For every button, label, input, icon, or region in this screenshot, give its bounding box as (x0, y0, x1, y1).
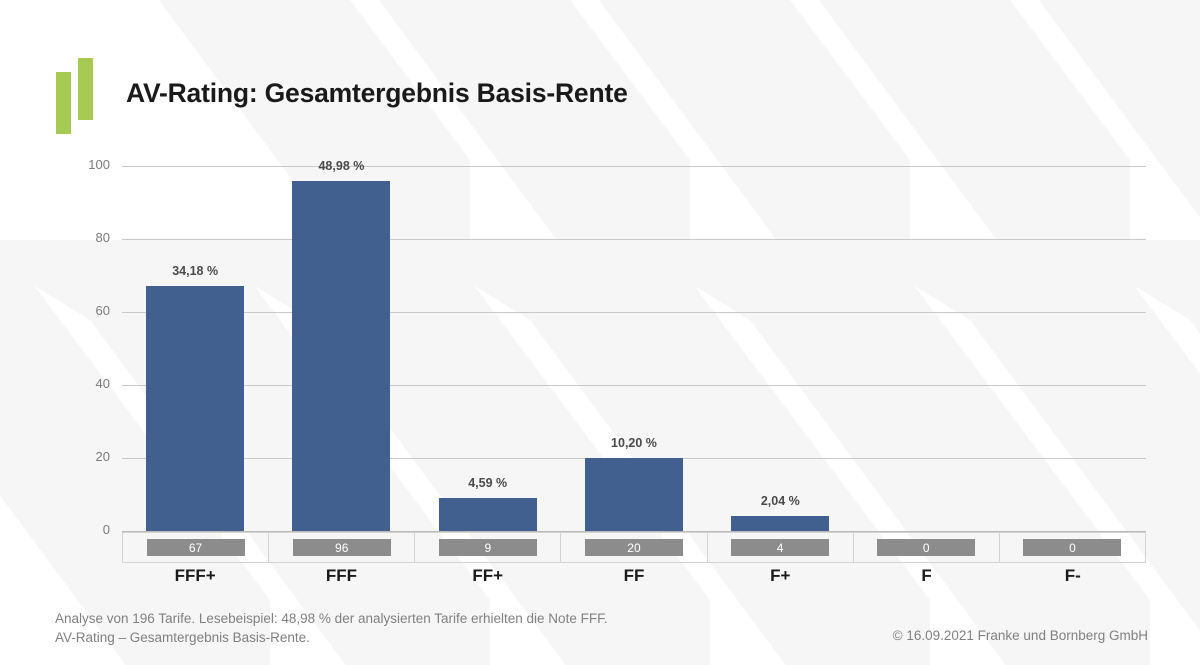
bar (292, 181, 390, 531)
count-badge: 4 (731, 539, 829, 556)
y-axis-tick-label: 40 (64, 376, 110, 391)
footnote-line-2: AV-Rating – Gesamtergebnis Basis-Rente. (55, 628, 608, 647)
bar-percentage-label: 4,59 % (395, 476, 581, 490)
value-table-cell: 9 (415, 532, 561, 563)
x-axis-category-label: FF+ (415, 566, 561, 592)
x-axis-category-label: FFF+ (122, 566, 268, 592)
bar-percentage-label: 48,98 % (248, 159, 434, 173)
y-axis-tick-label: 80 (64, 230, 110, 245)
value-table-row: 6796920400 (122, 532, 1146, 563)
y-axis-tick-label: 20 (64, 449, 110, 464)
x-axis-category-label: F+ (707, 566, 853, 592)
category-label-row: FFF+FFFFF+FFF+FF- (122, 566, 1146, 592)
count-badge: 9 (439, 539, 537, 556)
y-axis-tick-label: 60 (64, 303, 110, 318)
gridline (122, 385, 1146, 386)
bar (585, 458, 683, 531)
x-axis-category-label: FF (561, 566, 707, 592)
gridline (122, 239, 1146, 240)
value-table-cell: 20 (561, 532, 707, 563)
footnote-line-1: Analyse von 196 Tarife. Lesebeispiel: 48… (55, 609, 608, 628)
count-badge: 0 (1023, 539, 1121, 556)
bar-percentage-label: 2,04 % (687, 494, 873, 508)
value-table-cell: 4 (708, 532, 854, 563)
x-axis-category-label: FFF (268, 566, 414, 592)
gridline (122, 312, 1146, 313)
value-table-cell: 96 (269, 532, 415, 563)
bar (146, 286, 244, 531)
count-badge: 67 (147, 539, 245, 556)
count-badge: 0 (877, 539, 975, 556)
y-axis-tick-label: 100 (64, 157, 110, 172)
chart-canvas: AV-Rating: Gesamtergebnis Basis-Rente 02… (0, 0, 1200, 665)
copyright-notice: © 16.09.2021 Franke und Bornberg GmbH (893, 628, 1148, 643)
value-table-cell: 67 (122, 532, 269, 563)
bar (731, 516, 829, 531)
bar-percentage-label: 34,18 % (102, 264, 288, 278)
bar-percentage-label: 10,20 % (541, 436, 727, 450)
count-badge: 96 (293, 539, 391, 556)
footnote: Analyse von 196 Tarife. Lesebeispiel: 48… (55, 609, 608, 647)
bar (439, 498, 537, 531)
count-badge: 20 (585, 539, 683, 556)
x-axis-category-label: F- (1000, 566, 1146, 592)
y-axis-tick-label: 0 (64, 522, 110, 537)
value-table-cell: 0 (854, 532, 1000, 563)
value-table-cell: 0 (1000, 532, 1146, 563)
x-axis-category-label: F (853, 566, 999, 592)
